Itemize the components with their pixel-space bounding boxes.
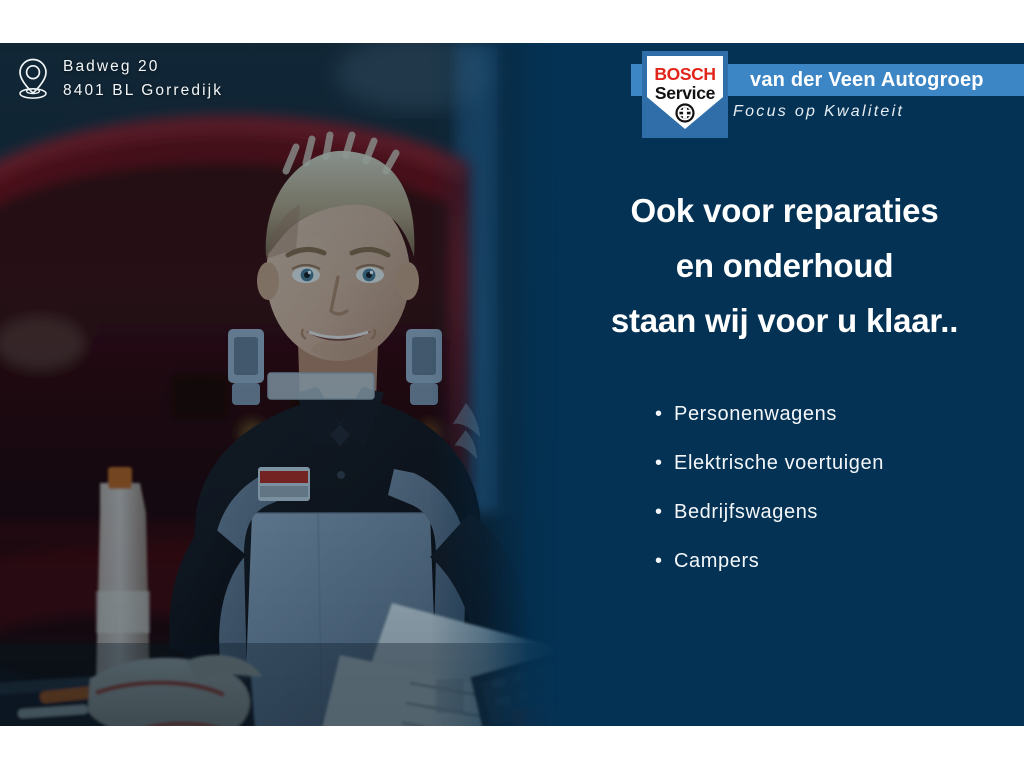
bosch-service-logo-svg: BOSCH Service [642, 51, 728, 138]
headline: Ook voor reparaties en onderhoud staan w… [545, 183, 1024, 348]
workshop-mechanic-photo [0, 43, 560, 726]
service-label: Bedrijfswagens [674, 501, 818, 523]
photo-illustration [0, 43, 560, 726]
list-item: Elektrische voertuigen [655, 439, 884, 488]
svg-text:BOSCH: BOSCH [654, 64, 715, 84]
address-block: Badweg 20 8401 BL Gorredijk [16, 55, 223, 103]
service-label: Elektrische voertuigen [674, 452, 884, 474]
headline-line-1: Ook voor reparaties [545, 183, 1024, 238]
svg-text:Service: Service [655, 83, 716, 103]
brand-name: van der Veen Autogroep [750, 65, 984, 95]
bosch-service-logo: BOSCH Service [642, 51, 728, 138]
service-label: Campers [674, 550, 759, 572]
address-line-2: 8401 BL Gorredijk [63, 79, 223, 103]
list-item: Bedrijfswagens [655, 488, 884, 537]
headline-line-3: staan wij voor u klaar.. [545, 293, 1024, 348]
bosch-armature-icon [675, 103, 694, 122]
location-pin-icon [16, 57, 50, 101]
service-label: Personenwagens [674, 403, 837, 425]
list-item: Campers [655, 537, 884, 586]
brand-tagline: Focus op Kwaliteit [733, 103, 904, 121]
services-list: Personenwagens Elektrische voertuigen Be… [655, 390, 884, 586]
address-lines: Badweg 20 8401 BL Gorredijk [63, 55, 223, 103]
address-line-1: Badweg 20 [63, 55, 223, 79]
list-item: Personenwagens [655, 390, 884, 439]
headline-line-2: en onderhoud [545, 238, 1024, 293]
promo-banner: Badweg 20 8401 BL Gorredijk BOSCH Servic… [0, 43, 1024, 726]
